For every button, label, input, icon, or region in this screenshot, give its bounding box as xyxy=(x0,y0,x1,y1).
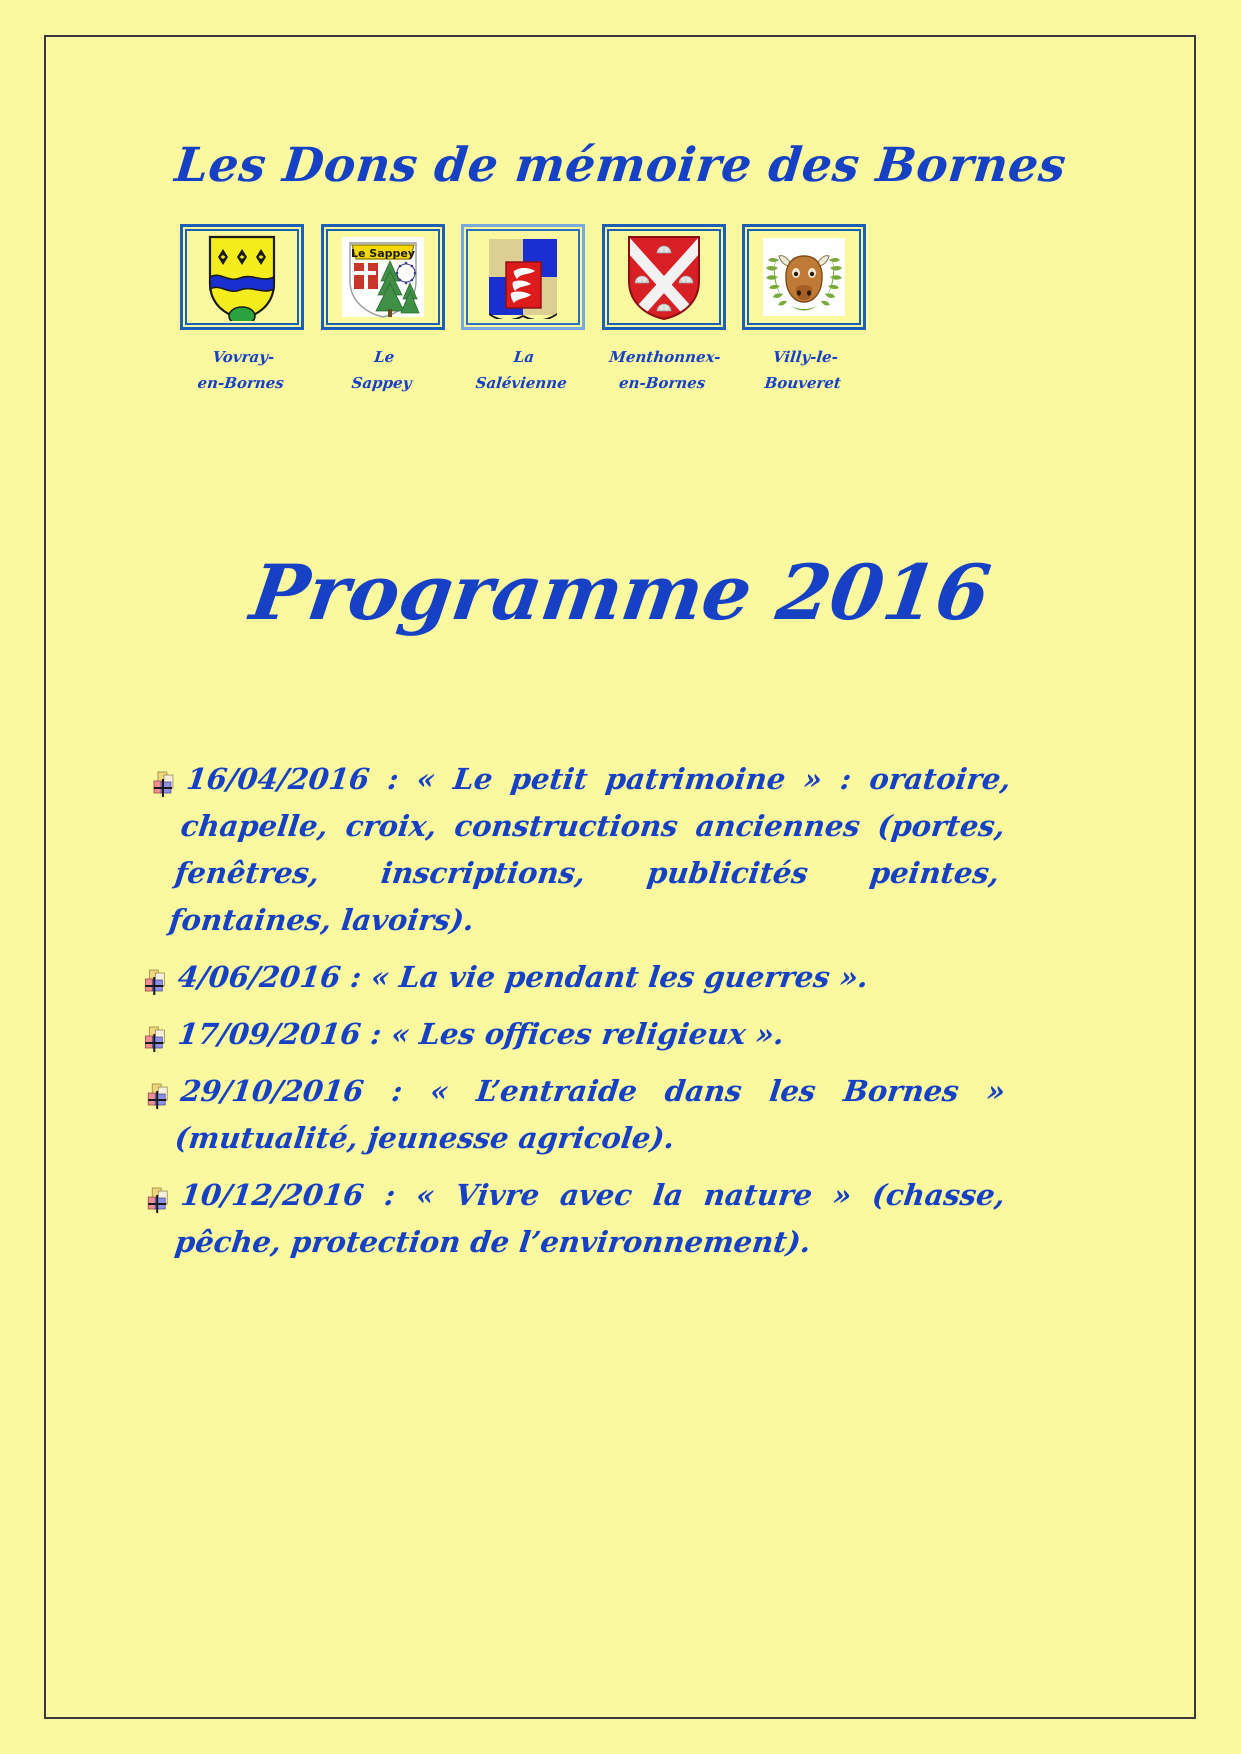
programme-list: 16/04/2016 : « Le petit patrimoine » : o… xyxy=(142,756,1002,1276)
coat-of-arms-villy-le-bouveret-icon xyxy=(761,236,847,318)
emblem-cell-le-sappey: Le Sappey xyxy=(319,224,447,397)
emblem-frame-inner-le-sappey: Le Sappey xyxy=(326,229,440,325)
emblem-cell-vovray-en-bornes: Vovray- en-Bornes xyxy=(178,224,306,397)
emblem-frame-la-salevienne xyxy=(461,224,585,330)
colored-squares-bullet-icon xyxy=(145,1076,171,1102)
svg-text:Le Sappey: Le Sappey xyxy=(350,247,414,260)
emblem-row: Vovray- en-Bornes Le Sappey xyxy=(178,224,868,397)
emblem-frame-inner-menthonnex xyxy=(607,229,721,325)
emblem-caption-le-sappey: Le Sappey xyxy=(350,344,415,397)
emblem-frame-villy xyxy=(742,224,866,330)
emblem-frame-inner-villy xyxy=(747,229,861,325)
emblem-cell-menthonnex-en-bornes: Menthonnex- en-Bornes xyxy=(600,224,728,397)
emblem-caption-menthonnex-en-bornes: Menthonnex- en-Bornes xyxy=(605,344,722,397)
emblem-frame-inner-vovray xyxy=(185,229,299,325)
coat-of-arms-vovray-en-bornes-icon xyxy=(204,233,280,321)
colored-squares-bullet-icon xyxy=(145,1180,171,1206)
programme-list-item: 29/10/2016 : « L’entraide dans les Borne… xyxy=(136,1068,1008,1162)
programme-item-text: 16/04/2016 : « Le petit patrimoine » : o… xyxy=(167,762,1012,937)
emblem-frame-le-sappey: Le Sappey xyxy=(321,224,445,330)
programme-item-text: 29/10/2016 : « L’entraide dans les Borne… xyxy=(173,1074,1007,1155)
colored-squares-bullet-icon xyxy=(142,962,168,988)
programme-list-item: 16/04/2016 : « Le petit patrimoine » : o… xyxy=(130,756,1013,944)
emblem-caption-vovray-en-bornes: Vovray- en-Bornes xyxy=(196,344,288,397)
logo-la-salevienne-icon xyxy=(483,235,563,319)
emblem-caption-villy-le-bouveret: Villy-le- Bouveret xyxy=(763,344,845,397)
emblem-frame-menthonnex xyxy=(602,224,726,330)
coat-of-arms-le-sappey-icon: Le Sappey xyxy=(340,233,426,321)
emblem-cell-villy-le-bouveret: Villy-le- Bouveret xyxy=(740,224,868,397)
page-title: Les Dons de mémoire des Bornes xyxy=(0,138,1241,193)
programme-item-text: 10/12/2016 : « Vivre avec la nature » (c… xyxy=(173,1178,1007,1259)
coat-of-arms-menthonnex-en-bornes-icon xyxy=(624,233,704,321)
programme-heading: Programme 2016 xyxy=(0,548,1241,637)
emblem-caption-la-salevienne: La Salévienne xyxy=(475,344,572,397)
programme-list-item: 4/06/2016 : « La vie pendant les guerres… xyxy=(139,954,1005,1001)
colored-squares-bullet-icon xyxy=(142,1019,168,1045)
programme-item-text: 4/06/2016 : « La vie pendant les guerres… xyxy=(176,960,870,994)
emblem-frame-inner-la-salevienne xyxy=(466,229,580,325)
emblem-frame-vovray xyxy=(180,224,304,330)
programme-item-text: 17/09/2016 : « Les offices religieux ». xyxy=(176,1017,786,1051)
colored-squares-bullet-icon xyxy=(151,764,177,790)
flyer-page: Les Dons de mémoire des Bornes xyxy=(0,0,1241,1754)
emblem-cell-la-salevienne: La Salévienne xyxy=(459,224,587,397)
programme-list-item: 10/12/2016 : « Vivre avec la nature » (c… xyxy=(136,1172,1008,1266)
programme-list-item: 17/09/2016 : « Les offices religieux ». xyxy=(139,1011,1005,1058)
